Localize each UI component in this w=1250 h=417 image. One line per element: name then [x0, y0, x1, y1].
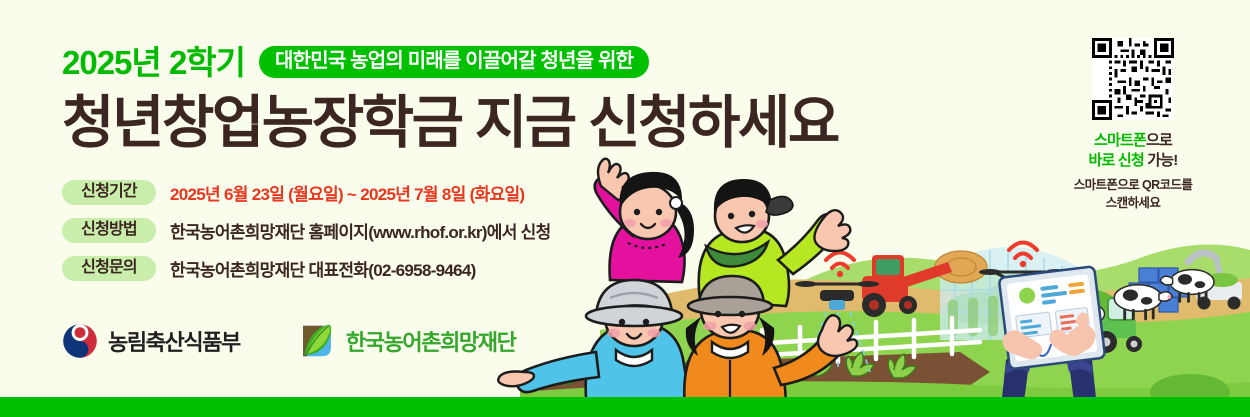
qr-subtext-line2: 스캔하세요 — [1038, 194, 1228, 212]
info-label-period: 신청기간 — [62, 180, 156, 205]
logo-mafra-label: 농림축산식품부 — [108, 325, 240, 357]
info-rows: 신청기간 2025년 6월 23일 (월요일) ~ 2025년 7월 8일 (화… — [62, 174, 722, 288]
info-value-method: 한국농어촌희망재단 홈페이지(www.rhof.or.kr)에서 신청 — [170, 218, 551, 243]
qr-code-icon[interactable] — [1092, 38, 1174, 120]
bottom-green-strip — [0, 397, 1250, 417]
semester-label: 2025년 2학기 — [62, 46, 245, 79]
info-value-contact: 한국농어촌희망재단 대표전화(02-6958-9464) — [170, 256, 476, 281]
qr-headline-strong-1: 스마트폰 — [1094, 132, 1146, 149]
info-label-method: 신청방법 — [62, 218, 156, 243]
info-row-contact: 신청문의 한국농어촌희망재단 대표전화(02-6958-9464) — [62, 250, 722, 288]
promo-banner: 2025년 2학기 대한민국 농업의 미래를 이끌어갈 청년을 위한 청년창업농… — [0, 0, 1250, 417]
info-label-contact: 신청문의 — [62, 256, 156, 281]
page-title: 청년창업농장학금 지금 신청하세요 — [62, 92, 722, 156]
headline-block: 2025년 2학기 대한민국 농업의 미래를 이끌어갈 청년을 위한 청년창업농… — [62, 42, 722, 288]
eyebrow-row: 2025년 2학기 대한민국 농업의 미래를 이끌어갈 청년을 위한 — [62, 42, 722, 82]
info-row-period: 신청기간 2025년 6월 23일 (월요일) ~ 2025년 7월 8일 (화… — [62, 174, 722, 212]
qr-headline-rest-1: 으로 — [1146, 132, 1172, 149]
qr-headline-strong-2: 바로 신청 — [1089, 152, 1144, 169]
logo-row: 농림축산식품부 한국농어촌희망재단 — [62, 322, 515, 360]
logo-rhof: 한국농어촌희망재단 — [298, 322, 516, 360]
logo-mafra: 농림축산식품부 — [62, 323, 240, 359]
info-value-period: 2025년 6월 23일 (월요일) ~ 2025년 7월 8일 (화요일) — [170, 180, 524, 205]
qr-subtext-line1: 스마트폰으로 QR코드를 — [1038, 176, 1228, 194]
tagline-badge: 대한민국 농업의 미래를 이끌어갈 청년을 위한 — [259, 46, 649, 78]
info-row-method: 신청방법 한국농어촌희망재단 홈페이지(www.rhof.or.kr)에서 신청 — [62, 212, 722, 250]
qr-headline-line1: 스마트폰으로 — [1038, 131, 1228, 151]
taegeuk-icon — [62, 323, 98, 359]
qr-subtext: 스마트폰으로 QR코드를 스캔하세요 — [1038, 176, 1228, 212]
qr-headline-line2: 바로 신청 가능! — [1038, 151, 1228, 171]
logo-rhof-label: 한국농어촌희망재단 — [346, 325, 516, 357]
green-leaf-icon — [298, 322, 336, 360]
qr-headline-rest-2: 가능! — [1144, 152, 1178, 169]
qr-block: 스마트폰으로 바로 신청 가능! 스마트폰으로 QR코드를 스캔하세요 — [1038, 38, 1228, 212]
